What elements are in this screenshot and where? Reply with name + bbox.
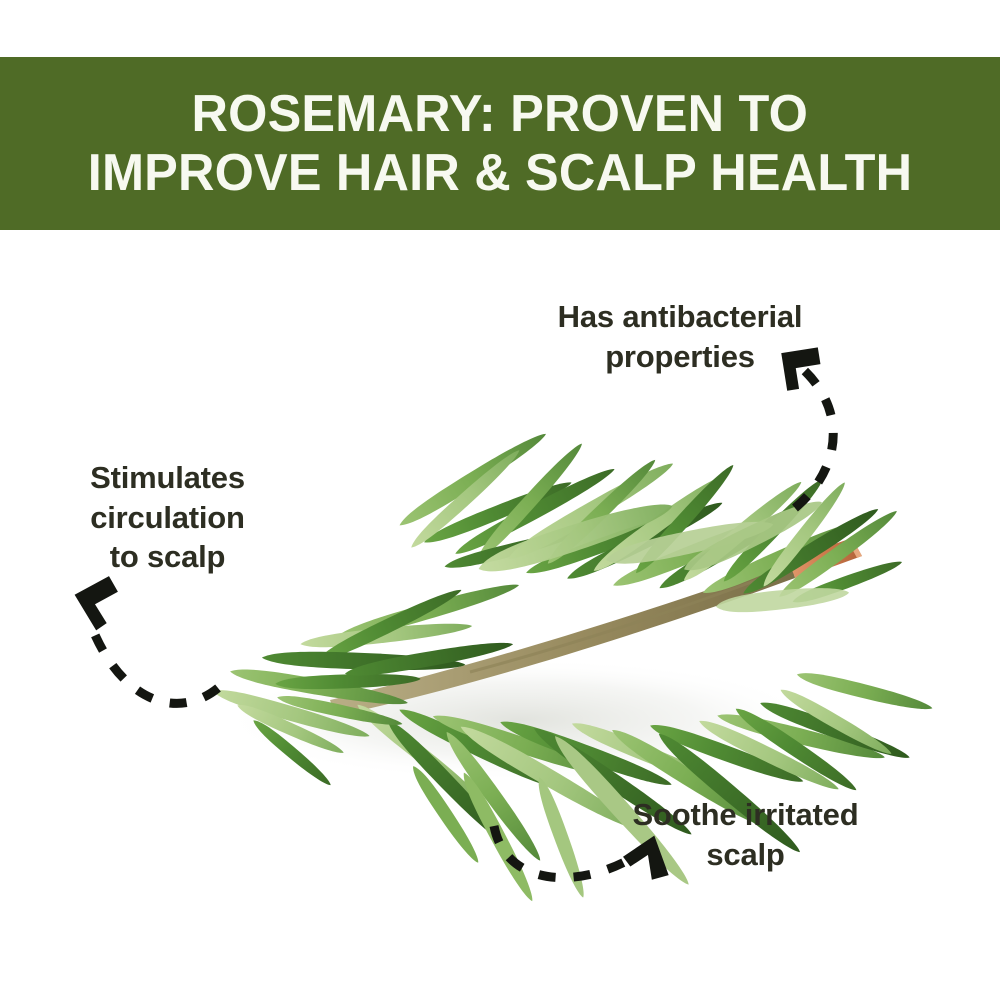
needles-highlight (475, 493, 850, 616)
callout-soothe-label: Soothe irritated scalp (588, 795, 903, 874)
callout-circulation-label: Stimulates circulation to scalp (45, 458, 290, 577)
callout-antibacterial-label: Has antibacterial properties (500, 297, 860, 376)
header-title-line-2: IMPROVE HAIR & SCALP HEALTH (88, 144, 912, 202)
needles-upper (396, 428, 905, 608)
infographic-page: ROSEMARY: PROVEN TO IMPROVE HAIR & SCALP… (0, 0, 1000, 1000)
arrowhead-circulation (72, 574, 119, 632)
needles-tip-cluster (235, 691, 404, 789)
stem-cut-end (788, 538, 862, 580)
needles-left (211, 578, 521, 744)
sprig-shadow (220, 658, 820, 782)
header-title-line-1: ROSEMARY: PROVEN TO (192, 85, 809, 143)
arrow-circulation (89, 620, 218, 703)
arrow-antibacterial (792, 360, 833, 508)
header-banner: ROSEMARY: PROVEN TO IMPROVE HAIR & SCALP… (0, 57, 1000, 230)
sprig-stem (330, 538, 862, 716)
